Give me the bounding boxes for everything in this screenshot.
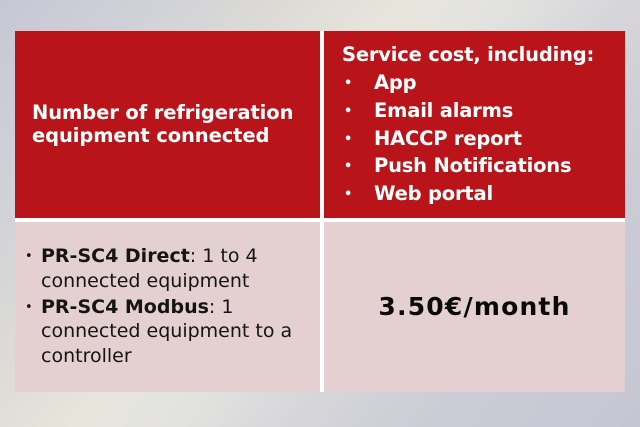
slide-canvas: Number of refrigeration equipment connec… (0, 0, 640, 427)
bullet-icon: • (342, 105, 374, 118)
body-cell-equipment-details: • PR-SC4 Direct: 1 to 4 connected equipm… (15, 222, 320, 392)
service-item-label: Email alarms (374, 97, 513, 125)
equipment-item-name: PR-SC4 Direct (41, 245, 190, 267)
bullet-icon: • (25, 301, 41, 314)
equipment-list: • PR-SC4 Direct: 1 to 4 connected equipm… (25, 244, 308, 369)
service-item-label: HACCP report (374, 125, 522, 153)
table-body-row: • PR-SC4 Direct: 1 to 4 connected equipm… (15, 222, 625, 392)
service-item-label: Push Notifications (374, 152, 571, 180)
service-item-label: App (374, 69, 416, 97)
bullet-icon: • (342, 133, 374, 146)
bullet-icon: • (342, 160, 374, 173)
service-item-label: Web portal (374, 180, 493, 208)
price-value: 3.50€/month (378, 292, 570, 321)
table-header-row: Number of refrigeration equipment connec… (15, 31, 625, 218)
body-cell-price: 3.50€/month (324, 222, 625, 392)
pricing-table: Number of refrigeration equipment connec… (15, 31, 625, 392)
list-item: • App (342, 69, 615, 97)
bullet-icon: • (342, 188, 374, 201)
list-item: • PR-SC4 Modbus: 1 connected equipment t… (25, 295, 308, 369)
header-cell-service-cost: Service cost, including: • App • Email a… (324, 31, 625, 218)
list-item: • HACCP report (342, 125, 615, 153)
list-item: • Email alarms (342, 97, 615, 125)
header-cell-equipment-count: Number of refrigeration equipment connec… (15, 31, 320, 218)
equipment-item-name: PR-SC4 Modbus (41, 296, 209, 318)
header-title-service-cost: Service cost, including: (342, 43, 615, 66)
equipment-item-text: PR-SC4 Direct: 1 to 4 connected equipmen… (41, 244, 308, 293)
bullet-icon: • (342, 77, 374, 90)
list-item: • PR-SC4 Direct: 1 to 4 connected equipm… (25, 244, 308, 293)
equipment-item-text: PR-SC4 Modbus: 1 connected equipment to … (41, 295, 308, 369)
header-title-equipment-count: Number of refrigeration equipment connec… (32, 101, 306, 149)
list-item: • Web portal (342, 180, 615, 208)
list-item: • Push Notifications (342, 152, 615, 180)
service-inclusions-list: • App • Email alarms • HACCP report • Pu… (342, 69, 615, 207)
bullet-icon: • (25, 250, 41, 263)
